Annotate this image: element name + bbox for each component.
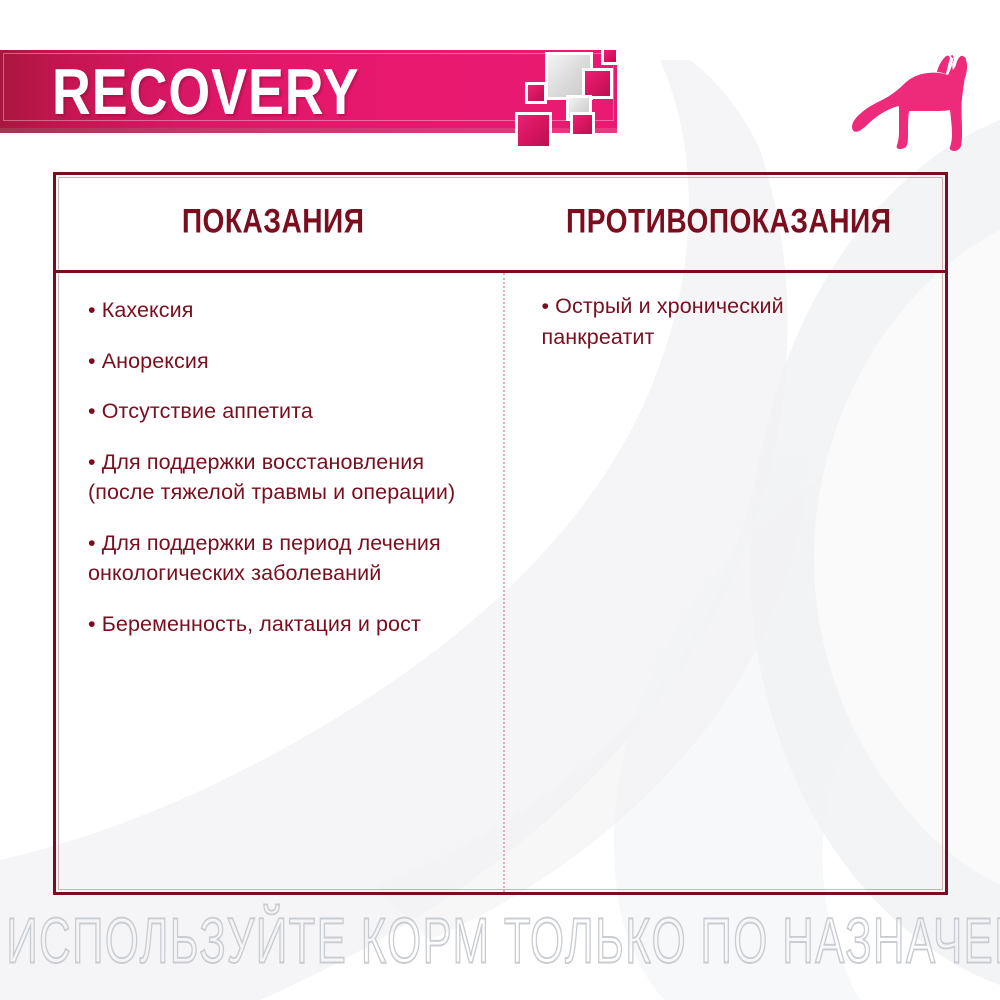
table-header-contraindications-label: ПРОТИВОПОКАЗАНИЯ [566, 203, 891, 242]
poster-canvas: RECOVERY ПОКАЗАНИЯ ПРОТИВОПОКАЗАНИЯ • Ка… [0, 0, 1000, 1000]
mosaic-square-pink-3 [525, 82, 547, 104]
banner-title: RECOVERY [52, 63, 372, 119]
list-item: • Анорексия [88, 346, 481, 377]
table-header-indications: ПОКАЗАНИЯ [56, 175, 506, 270]
table-header-indications-label: ПОКАЗАНИЯ [181, 203, 364, 242]
mosaic-decoration [490, 40, 660, 170]
list-item: • Для поддержки восстановления (после тя… [88, 447, 468, 508]
table-header-contraindications: ПРОТИВОПОКАЗАНИЯ [506, 175, 946, 270]
mosaic-square-pink-4 [515, 112, 552, 149]
table-header-row: ПОКАЗАНИЯ ПРОТИВОПОКАЗАНИЯ [56, 175, 945, 273]
footer-disclaimer-text: ИСПОЛЬЗУЙТЕ КОРМ ТОЛЬКО ПО НАЗНАЧЕНИЮ ВР… [6, 906, 1000, 979]
cat-silhouette-icon [842, 48, 992, 153]
list-item: • Для поддержки в период лечения онколог… [88, 528, 453, 589]
mosaic-square-pink-5 [570, 112, 595, 137]
list-item: • Кахексия [88, 295, 481, 326]
list-item: • Отсутствие аппетита [88, 396, 481, 427]
list-item: • Беременность, лактация и рост [88, 609, 458, 640]
banner-title-text: RECOVERY [52, 59, 359, 124]
table-body: • Кахексия • Анорексия • Отсутствие аппе… [56, 273, 945, 892]
indications-column: • Кахексия • Анорексия • Отсутствие аппе… [56, 273, 501, 892]
contraindications-column: • Острый и хронический панкреатит [501, 273, 945, 892]
mosaic-square-pink-1 [601, 47, 619, 65]
footer-disclaimer: ИСПОЛЬЗУЙТЕ КОРМ ТОЛЬКО ПО НАЗНАЧЕНИЮ ВР… [0, 906, 1000, 956]
comparison-table: ПОКАЗАНИЯ ПРОТИВОПОКАЗАНИЯ • Кахексия • … [53, 172, 948, 895]
list-item: • Острый и хронический панкреатит [541, 291, 871, 352]
